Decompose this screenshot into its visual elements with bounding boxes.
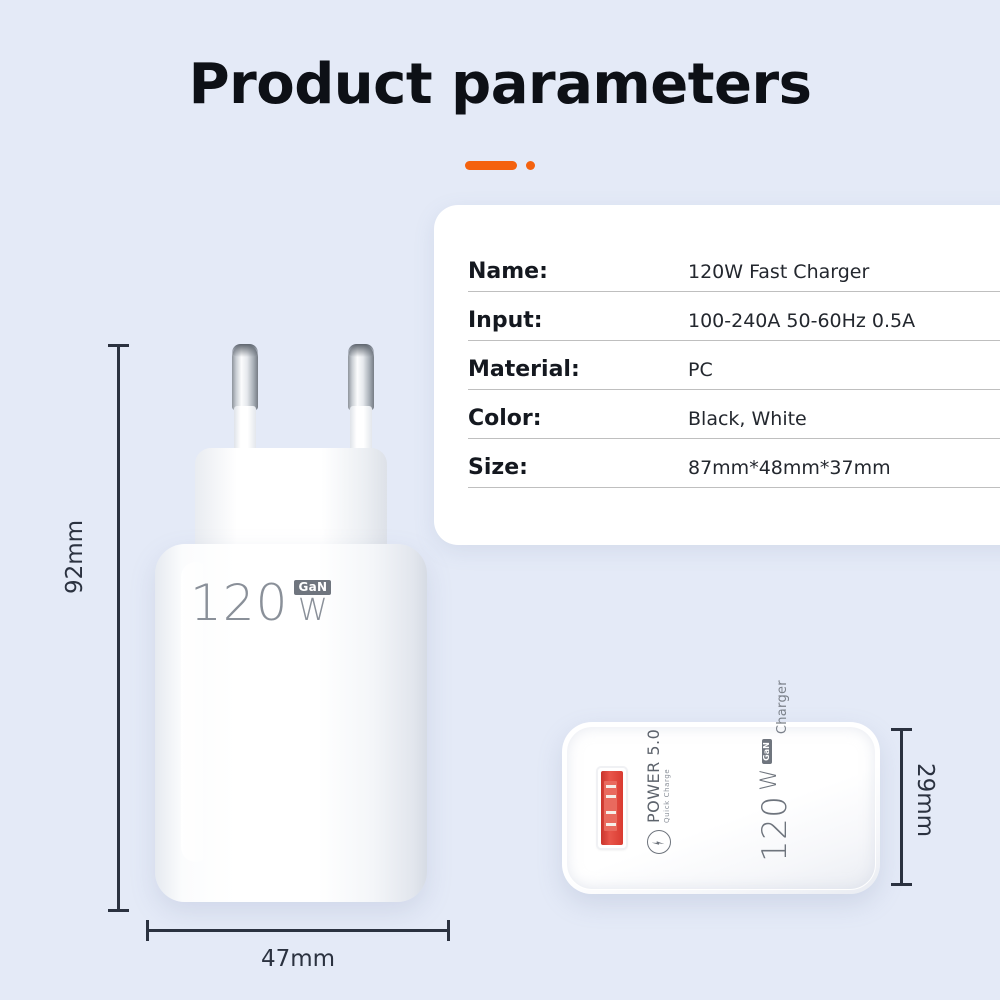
spec-label-size: Size: — [468, 455, 688, 485]
spec-value-material: PC — [688, 359, 1000, 387]
gan-badge: GaN — [762, 739, 772, 764]
table-row: Material: PC — [468, 341, 1000, 390]
watt-stack: GaN W — [294, 578, 331, 626]
usb-contact — [606, 823, 616, 826]
charger-neck — [195, 448, 387, 558]
height-dimension-line — [117, 344, 120, 912]
spec-table: Name: 120W Fast Charger Input: 100-240A … — [468, 243, 1000, 488]
table-row: Input: 100-240A 50-60Hz 0.5A — [468, 292, 1000, 341]
usb-contact — [606, 795, 616, 798]
depth-dimension-line — [900, 728, 903, 886]
accent-bar-icon — [465, 161, 517, 170]
watt-mark: W — [759, 769, 781, 791]
spec-label-material: Material: — [468, 357, 688, 387]
spec-label-name: Name: — [468, 259, 688, 289]
watt-mark: W — [298, 596, 328, 626]
spec-label-color: Color: — [468, 406, 688, 436]
accent-dot-icon — [526, 161, 535, 170]
depth-dimension-label: 29mm — [912, 763, 938, 837]
quick-charge-mark: POWER 5.0 Quick Charge — [646, 762, 738, 854]
spec-value-input: 100-240A 50-60Hz 0.5A — [688, 310, 1000, 338]
width-dimension-line — [146, 929, 450, 932]
charger-side-image: POWER 5.0 Quick Charge 120 W GaN Charger — [562, 722, 880, 894]
table-row: Color: Black, White — [468, 390, 1000, 439]
spec-value-size: 87mm*48mm*37mm — [688, 457, 1000, 485]
charger-side-label-rotated: 120 W GaN Charger — [758, 680, 792, 862]
quick-charge-text: POWER 5.0 Quick Charge — [646, 729, 671, 823]
quick-charge-logo-icon — [647, 830, 671, 854]
table-row: Size: 87mm*48mm*37mm — [468, 439, 1000, 488]
power-number: 120 — [190, 578, 288, 628]
quick-charge-title: POWER 5.0 — [646, 729, 662, 823]
spec-label-input: Input: — [468, 308, 688, 338]
pin-metal-tip — [348, 344, 374, 410]
dimension-cap-icon — [891, 728, 912, 731]
power-number: 120 — [758, 796, 792, 862]
dimension-cap-icon — [108, 909, 129, 912]
dimension-cap-icon — [146, 920, 149, 941]
charger-word: Charger — [775, 680, 790, 734]
product-parameters-page: Product parameters Name: 120W Fast Charg… — [0, 0, 1000, 1000]
usb-a-port-icon — [598, 768, 626, 848]
charger-side-label: 120 W GaN Charger — [758, 754, 866, 862]
pin-metal-tip — [232, 344, 258, 410]
spec-card: Name: 120W Fast Charger Input: 100-240A … — [434, 205, 1000, 545]
charger-front-image: 120 GaN W — [140, 330, 440, 910]
height-dimension-label: 92mm — [62, 520, 88, 594]
dimension-cap-icon — [891, 883, 912, 886]
quick-charge-rotated: POWER 5.0 Quick Charge — [646, 729, 671, 854]
charger-front-label: 120 GaN W — [190, 578, 331, 628]
usb-port-inner — [601, 771, 623, 845]
page-title: Product parameters — [0, 52, 1000, 117]
usb-contact — [606, 785, 616, 788]
title-accent — [0, 158, 1000, 172]
spec-value-name: 120W Fast Charger — [688, 261, 1000, 289]
dimension-cap-icon — [108, 344, 129, 347]
width-dimension-label: 47mm — [146, 946, 450, 972]
usb-contact — [606, 811, 616, 814]
spec-value-color: Black, White — [688, 408, 1000, 436]
quick-charge-subtitle: Quick Charge — [664, 729, 671, 823]
dimension-cap-icon — [447, 920, 450, 941]
table-row: Name: 120W Fast Charger — [468, 243, 1000, 292]
